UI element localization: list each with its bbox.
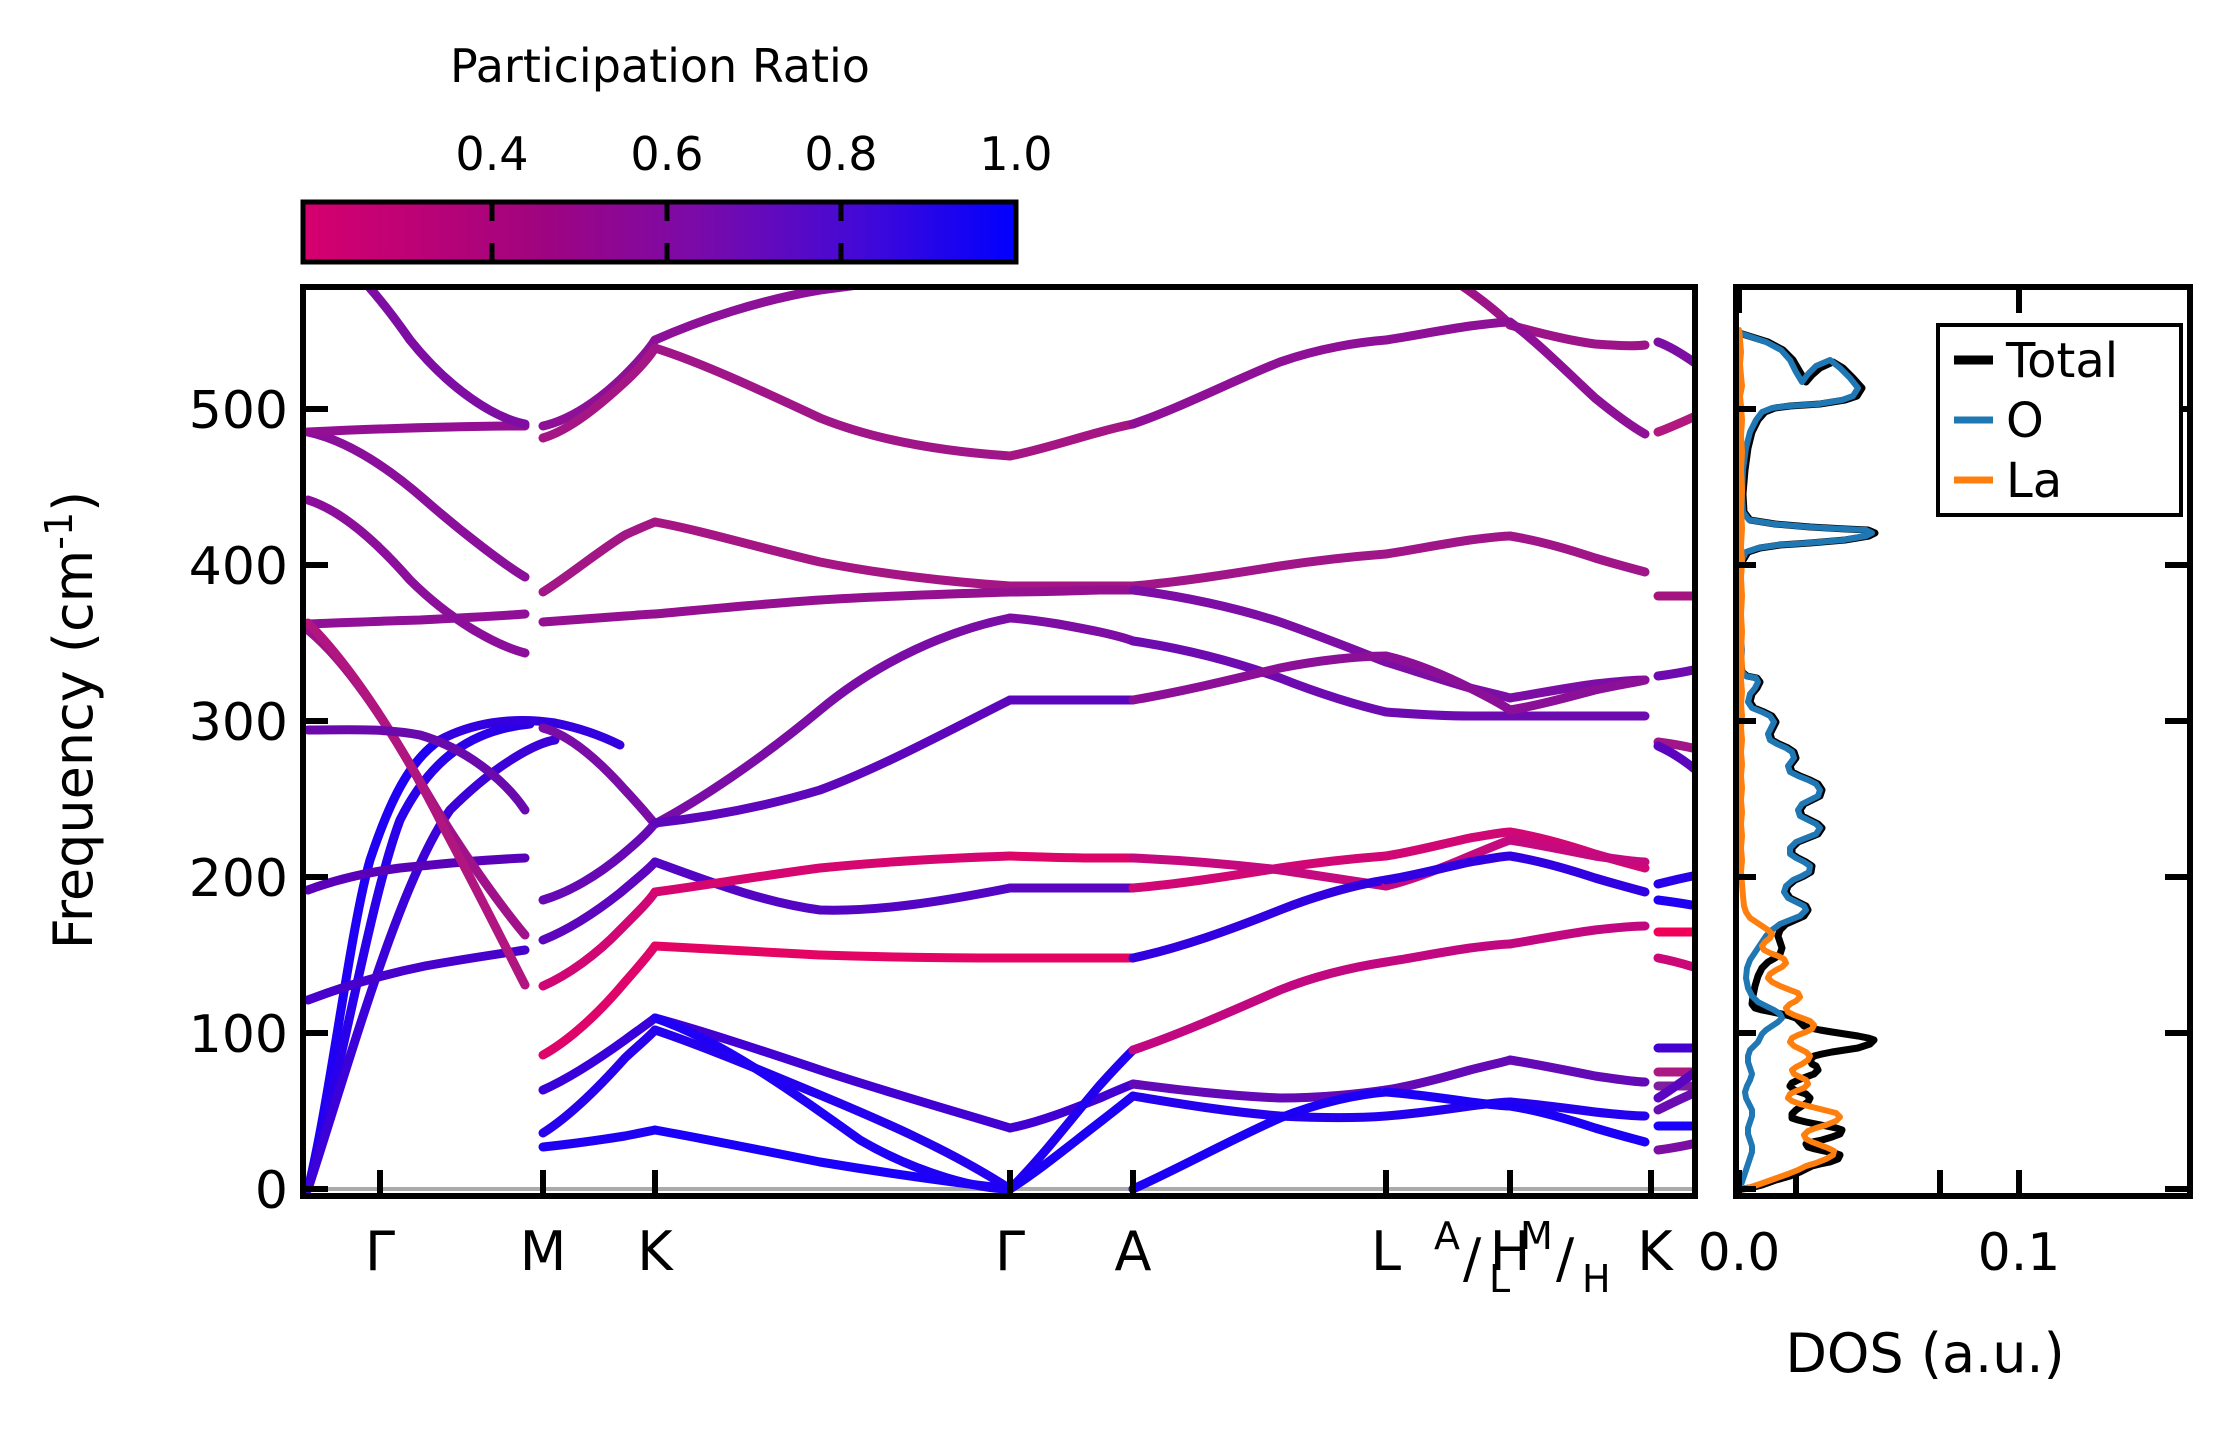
- legend-label-o: O: [2006, 393, 2044, 449]
- band-ytick-label-4: 400: [189, 537, 288, 597]
- svg-text:Frequency (cm-1): Frequency (cm-1): [37, 491, 105, 949]
- band-curve: [1386, 712, 1510, 716]
- band-ytick-label-3: 300: [189, 693, 288, 753]
- colorbar-tick-0: 0.4: [455, 127, 528, 181]
- band-xtick-label-k2: K: [1637, 1220, 1674, 1283]
- band-xtick-label-gamma2: Γ: [995, 1220, 1025, 1283]
- band-curve: [1010, 590, 1133, 592]
- band-ylabel-tail: ): [42, 491, 105, 512]
- dos-xtick-label-0: 0.0: [1698, 1223, 1781, 1283]
- colorbar-tick-1: 0.6: [630, 127, 703, 181]
- figure-root: Participation Ratio 0.4 0.6 0.8 1.0 Freq…: [0, 0, 2222, 1455]
- phonon-band-dos-figure: Participation Ratio 0.4 0.6 0.8 1.0 Freq…: [0, 0, 2222, 1455]
- band-ylabel-sup: -1: [37, 512, 81, 550]
- dos-legend: Total O La: [1938, 325, 2181, 515]
- band-xtick-label-gamma1: Γ: [365, 1220, 395, 1283]
- colorbar-tick-2: 0.8: [804, 127, 877, 181]
- dos-xlabel: DOS (a.u.): [1785, 1322, 2064, 1385]
- band-xtick-sub-l: L: [1489, 1257, 1510, 1301]
- band-ylabel-group: Frequency (cm-1): [37, 491, 105, 949]
- band-xtick-sup-a: A: [1434, 1214, 1460, 1258]
- band-curve: [1010, 856, 1133, 858]
- band-ytick-label-2: 200: [189, 849, 288, 909]
- band-ytick-label-1: 100: [189, 1005, 288, 1065]
- band-ylabel-main: Frequency (cm: [42, 550, 105, 950]
- band-xtick-sub-h: H: [1582, 1257, 1611, 1301]
- band-xtick-label-k: K: [637, 1220, 674, 1283]
- band-xtick-slash-2: /: [1556, 1227, 1575, 1290]
- dos-xtick-label-1: 0.1: [1978, 1223, 2061, 1283]
- band-xtick-label-m: M: [520, 1220, 567, 1283]
- band-xtick-slash-1: /: [1463, 1227, 1482, 1290]
- legend-label-total: Total: [2005, 333, 2118, 389]
- band-ytick-label-0: 0: [255, 1161, 288, 1221]
- colorbar-tick-3: 1.0: [979, 127, 1052, 181]
- band-xtick-sup-m: M: [1520, 1214, 1553, 1258]
- band-xtick-label-a: A: [1115, 1220, 1152, 1283]
- band-ytick-label-5: 500: [189, 381, 288, 441]
- legend-label-la: La: [2006, 453, 2062, 509]
- colorbar-gradient-bar: [303, 202, 1016, 262]
- colorbar-title: Participation Ratio: [450, 39, 870, 93]
- band-xtick-label-l: L: [1371, 1220, 1401, 1283]
